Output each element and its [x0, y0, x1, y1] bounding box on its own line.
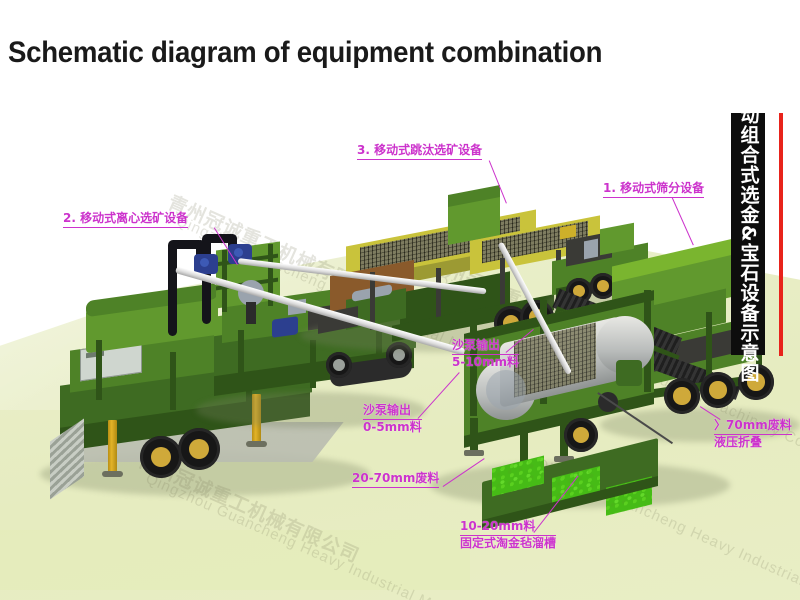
label-flow-sand-0-5-line2: 0-5mm料	[363, 420, 422, 435]
frame-leg	[170, 352, 176, 410]
label-flow-sand-5-10-line1: 沙泵输出	[452, 338, 519, 355]
label-equipment-3-text: 3. 移动式跳汰选矿设备	[357, 143, 482, 160]
label-flow-20-70-line1: 20-70mm废料	[352, 471, 439, 488]
track-wheel	[326, 352, 352, 378]
feeder-motor	[584, 239, 598, 260]
page-title: Schematic diagram of equipment combinati…	[8, 36, 602, 70]
label-flow-10-20: 10-20mm料 固定式淘金毡溜槽	[460, 519, 556, 551]
frame-leg	[238, 330, 244, 378]
schematic-canvas: Qingzhou Guancheng Heavy Industrial Mach…	[0, 0, 800, 600]
label-flow-sand-5-10: 沙泵输出 5-10mm料	[452, 338, 519, 370]
label-equipment-3: 3. 移动式跳汰选矿设备	[357, 143, 482, 160]
frame-leg	[96, 340, 102, 400]
trommel-drive-motor	[616, 360, 642, 386]
label-equipment-1: 1. 移动式筛分设备	[603, 181, 704, 198]
drum-end-ring	[486, 370, 526, 410]
plant-tire	[664, 378, 700, 414]
label-equipment-2: 2. 移动式离心选矿设备	[63, 211, 188, 228]
pump-hub	[234, 248, 243, 257]
plant-tire	[700, 372, 736, 408]
label-flow-sand-0-5-line1: 沙泵输出	[363, 403, 422, 420]
vertical-banner: 移动组合式选金&宝石设备示意图	[731, 113, 765, 355]
banner-red-rule	[779, 113, 783, 356]
drive-motor	[272, 316, 298, 338]
label-flow-sand-0-5: 沙泵输出 0-5mm料	[363, 403, 422, 435]
trommel-tire	[564, 418, 598, 452]
label-equipment-2-text: 2. 移动式离心选矿设备	[63, 211, 188, 228]
jack-foot	[102, 471, 123, 477]
trailer-tire	[178, 428, 220, 470]
bowl-stand	[246, 302, 256, 324]
jack-foot	[246, 441, 267, 447]
vertical-banner-text: 移动组合式选金&宝石设备示意图	[739, 85, 758, 383]
leg-foot	[464, 450, 484, 456]
label-flow-over-70-line1: 〉70mm废料	[714, 418, 792, 435]
support-leg	[470, 418, 478, 452]
label-flow-20-70: 20-70mm废料	[352, 471, 439, 488]
label-flow-10-20-line2: 固定式淘金毡溜槽	[460, 536, 556, 551]
pump-hub	[200, 258, 209, 267]
label-flow-10-20-line1: 10-20mm料	[460, 519, 556, 536]
frame-leg	[310, 340, 316, 388]
trailer-tire	[140, 436, 182, 478]
label-flow-over-70-line2: 液压折叠	[714, 435, 792, 450]
hydraulic-jack	[108, 420, 117, 474]
suction-pipe	[168, 244, 177, 336]
label-flow-sand-5-10-line2: 5-10mm料	[452, 355, 519, 370]
label-equipment-1-text: 1. 移动式筛分设备	[603, 181, 704, 198]
label-flow-over-70: 〉70mm废料 液压折叠	[714, 418, 792, 450]
